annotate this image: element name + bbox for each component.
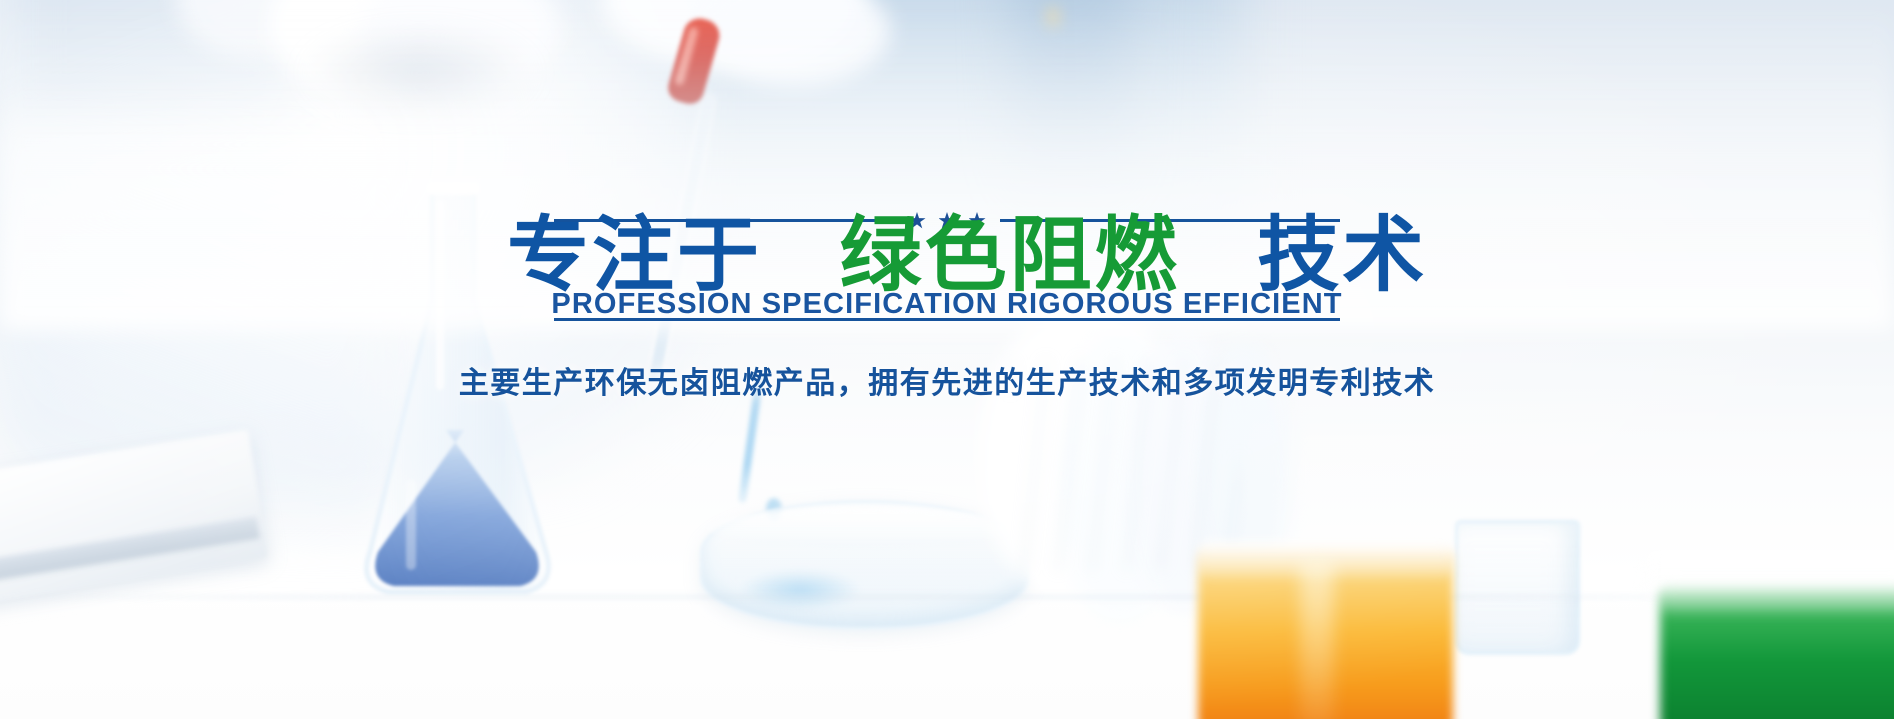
subtitle-english: PROFESSION SPECIFICATION RIGOROUS EFFICI…: [397, 288, 1497, 321]
description-chinese: 主要生产环保无卤阻燃产品，拥有先进的生产技术和多项发明专利技术: [297, 358, 1597, 402]
banner-text-overlay: 专注于 绿色阻燃 技术 PROFESSION SPECIFICATION RIG…: [0, 0, 1894, 719]
hero-banner: 专注于 绿色阻燃 技术 PROFESSION SPECIFICATION RIG…: [0, 0, 1894, 719]
